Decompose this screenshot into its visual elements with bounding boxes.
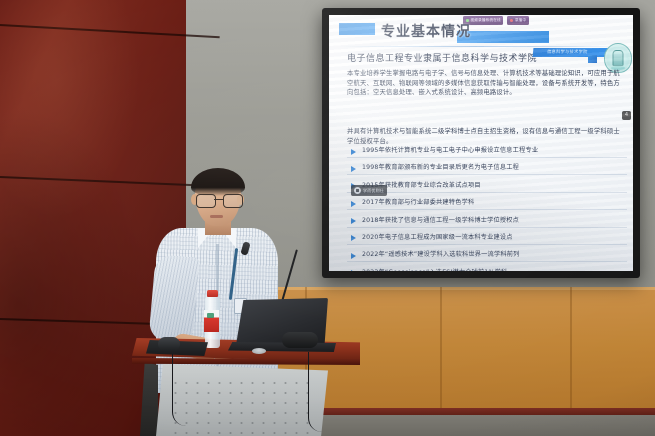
slide-title: 专业基本情况 xyxy=(381,21,471,41)
list-item: 2018年获批了信息与通信工程一级学科博士学位授权点 xyxy=(351,217,623,225)
title-accent-left xyxy=(339,23,375,35)
display-screen: 视频录播系统在线 录播中 专业基本情况 电子信息工程专业隶属于信息科学与技术学院 xyxy=(329,15,633,271)
water-bottle xyxy=(204,290,221,348)
list-item: 2020年电子信息工程成为国家级一流本科专业建设点 xyxy=(351,234,623,242)
list-item: 1995年依托计算机专业与电工电子中心申报设立信息工程专业 xyxy=(351,147,623,155)
desk-puck xyxy=(252,348,266,354)
title-divider xyxy=(337,46,625,47)
wall-display[interactable]: 视频录播系统在线 录播中 专业基本情况 电子信息工程专业隶属于信息科学与技术学院 xyxy=(322,8,640,278)
presenter-mouth xyxy=(210,215,223,218)
presentation-slide: 视频录播系统在线 录播中 专业基本情况 电子信息工程专业隶属于信息科学与技术学院 xyxy=(329,15,633,271)
slide-bullet-list: 1995年依托计算机专业与电工电子中心申报设立信息工程专业 1998年教育部颁布… xyxy=(351,147,623,271)
watermark-icon xyxy=(354,187,361,194)
slide-paragraph-2: 并具有计算机技术与智能系统二级学科博士点自主招生资格，设有信息与通信工程一级学科… xyxy=(347,127,621,146)
podium-side xyxy=(140,362,158,436)
glasses-icon xyxy=(195,194,243,206)
bottle-cap xyxy=(207,290,218,297)
slide-paragraph-1: 本专业培养学生掌握电路与电子学、信号与信息处理、计算机技术等基础理论知识，可应用… xyxy=(347,69,621,98)
presenter-sleeve xyxy=(148,254,199,344)
page-marker: 4 xyxy=(622,111,631,120)
list-item: 2017年教育部与行业部委共建特色学科 xyxy=(351,199,623,207)
cable-right xyxy=(308,352,331,432)
watermark-badge: 学而优则仕 xyxy=(351,185,387,196)
list-item: 2022年“遥感技术”建设学科入选软科世界一流学科前列 xyxy=(351,251,623,259)
slide-title-bar: 专业基本情况 xyxy=(339,21,625,45)
watermark-label: 学而优则仕 xyxy=(363,188,384,194)
school-ribbon-label: 信息科学与技术学院 xyxy=(547,49,588,55)
mouse[interactable] xyxy=(158,337,180,350)
list-item: 2023年“Geoscience”入选ESI潜力全球前1%学科 xyxy=(351,269,623,271)
presentation-photo: 视频录播系统在线 录播中 专业基本情况 电子信息工程专业隶属于信息科学与技术学院 xyxy=(0,0,655,436)
presenter-hair xyxy=(191,168,245,196)
cable-left xyxy=(172,354,191,426)
ribbon-chip xyxy=(588,55,597,63)
list-item: 2015年获批教育部专业综合改革试点项目 xyxy=(351,182,623,190)
microphone-base xyxy=(282,332,318,348)
podium-perforations xyxy=(170,378,310,436)
list-item: 1998年教育部颁布新的专业目录后更名为电子信息工程 xyxy=(351,164,623,172)
podium xyxy=(132,338,360,436)
